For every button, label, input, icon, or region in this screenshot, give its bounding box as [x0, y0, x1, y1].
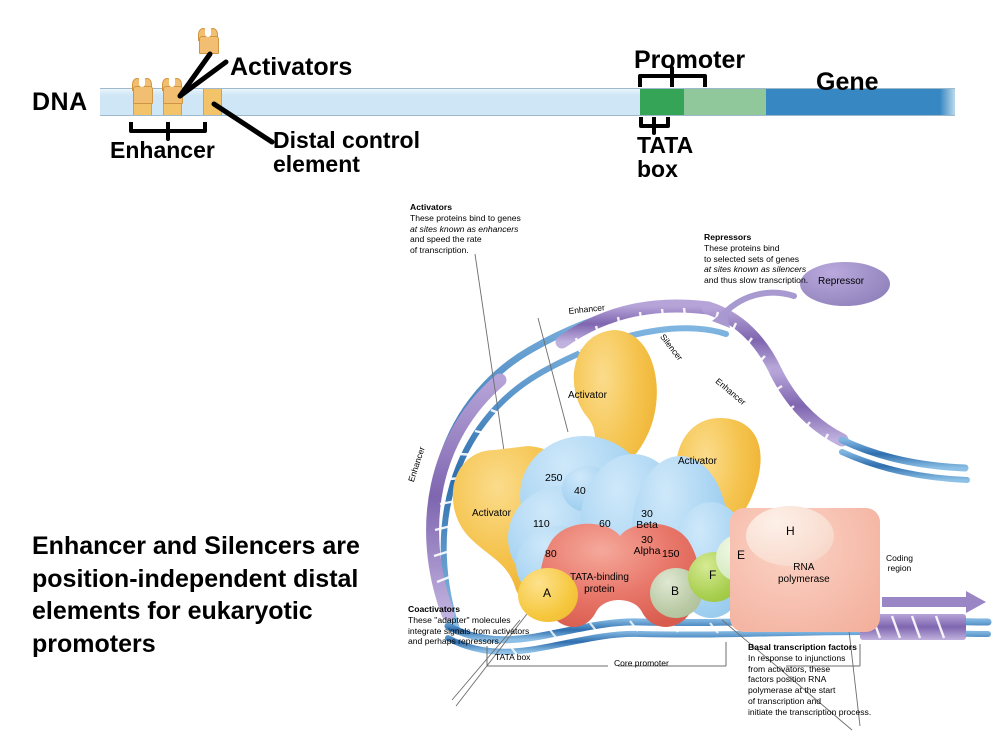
- annotation-basal-line-2: factors position RNA: [748, 674, 826, 684]
- factor-h-label: H: [786, 524, 795, 538]
- annotation-activators-line-3: of transcription.: [410, 245, 469, 255]
- core-promoter-label: Core promoter: [614, 658, 669, 668]
- subunit-30-label-2: 30: [641, 534, 653, 546]
- annotation-coactivators: Coactivators These "adapter" molecules i…: [408, 604, 608, 647]
- annotation-basal-line-1: from activators, these: [748, 664, 830, 674]
- promoter-label: Promoter: [634, 46, 745, 75]
- activator-center-label: Activator: [568, 390, 607, 401]
- annotation-activators-line-0: These proteins bind to genes: [410, 213, 521, 223]
- factor-a-label: A: [543, 586, 551, 600]
- subunit-alpha-label: Alpha: [634, 545, 661, 557]
- factor-e-label: E: [737, 548, 745, 562]
- annotation-coactivators-line-2: and perhaps repressors.: [408, 636, 501, 646]
- annotation-repressors: Repressors These proteins bind to select…: [704, 232, 884, 286]
- distal-control-element-label: Distal control element: [273, 128, 420, 177]
- mediator-label-110: 110: [533, 518, 550, 530]
- annotation-repressors-line-1: to selected sets of genes: [704, 254, 799, 264]
- annotation-basal-line-3: polymerase at the start: [748, 685, 835, 695]
- annotation-basal-title: Basal transcription factors: [748, 642, 857, 652]
- linear-dna-map: DNA: [0, 0, 1000, 190]
- annotation-basal-line-0: In response to injunctions: [748, 653, 845, 663]
- mediator-label-40: 40: [574, 485, 586, 497]
- annotation-activators: Activators These proteins bind to genes …: [410, 202, 600, 256]
- coding-region-arrow: [882, 590, 992, 616]
- activators-label: Activators: [230, 53, 352, 82]
- gene-label: Gene: [816, 68, 879, 97]
- transcription-initiation-complex-diagram: Activator Activator Activator 250 40 110…: [390, 190, 1000, 750]
- annotation-repressors-line-2: at sites known as silencers: [704, 264, 806, 274]
- annotation-basal-line-4: of transcription and: [748, 696, 821, 706]
- rna-polymerase-label: RNA polymerase: [778, 562, 830, 585]
- subunit-beta-label: Beta: [636, 519, 658, 531]
- tata-box-label: TATA box: [637, 133, 693, 182]
- enhancer-label: Enhancer: [110, 137, 215, 164]
- annotation-repressors-line-3: and thus slow transcription.: [704, 275, 808, 285]
- annotation-activators-line-2: and speed the rate: [410, 234, 482, 244]
- annotation-activators-title: Activators: [410, 202, 452, 212]
- annotation-basal-transcription-factors: Basal transcription factors In response …: [748, 642, 953, 718]
- coding-region-label: Coding region: [886, 554, 913, 574]
- polymerase-subunit-30-beta: 30 Beta: [627, 509, 667, 532]
- annotation-repressors-title: Repressors: [704, 232, 751, 242]
- mediator-label-250: 250: [545, 472, 563, 484]
- activator-right-label: Activator: [678, 456, 717, 467]
- tata-binding-protein-label: TATA-binding protein: [570, 572, 629, 595]
- tata-box-region-label: TATA box: [495, 652, 530, 662]
- annotation-repressors-line-0: These proteins bind: [704, 243, 779, 253]
- annotation-coactivators-title: Coactivators: [408, 604, 460, 614]
- factor-f-label: F: [709, 568, 716, 582]
- mediator-label-80: 80: [545, 548, 557, 560]
- annotation-coactivators-line-1: integrate signals from activators: [408, 626, 529, 636]
- subunit-30-label: 30: [641, 508, 653, 520]
- polymerase-subunit-30-alpha: 30 Alpha: [627, 535, 667, 558]
- slide-caption: Enhancer and Silencers are position-inde…: [32, 530, 362, 660]
- annotation-basal-line-5: initiate the transcription process.: [748, 707, 871, 717]
- factor-b-label: B: [671, 584, 679, 598]
- annotation-activators-line-1: at sites known as enhancers: [410, 224, 518, 234]
- annotation-coactivators-line-0: These "adapter" molecules: [408, 615, 511, 625]
- activator-left-label: Activator: [472, 508, 511, 519]
- mediator-label-60: 60: [599, 518, 611, 530]
